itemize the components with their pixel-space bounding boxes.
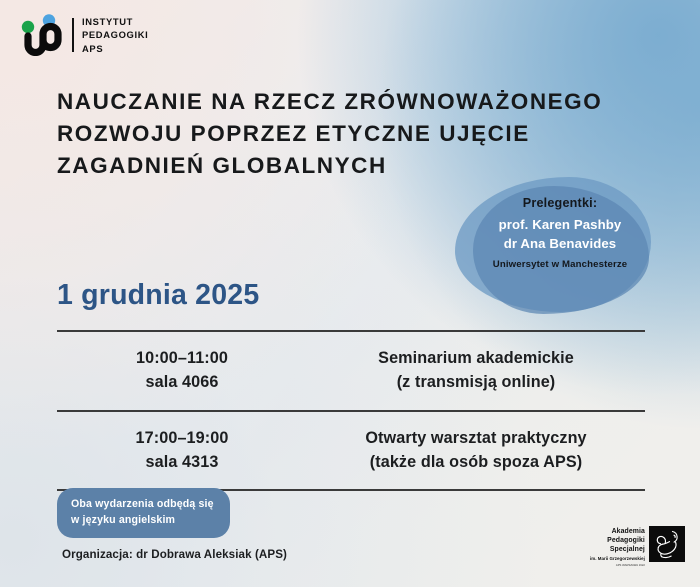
aps-emblem-icon (649, 526, 685, 562)
page-title: NAUCZANIE NA RZECZ ZRÓWNOWAŻONEGO ROZWOJ… (57, 86, 657, 182)
ip-logo-icon (18, 14, 66, 56)
logo-divider (72, 18, 74, 52)
aps-line-3: Specjalnej (590, 546, 645, 555)
language-badge: Oba wydarzenia odbędą się w języku angie… (57, 488, 230, 538)
schedule-row: 10:00–11:00 sala 4066 Seminarium akademi… (57, 332, 645, 410)
aps-line-1: Akademia (590, 528, 645, 537)
schedule-note: (także dla osób spoza APS) (307, 450, 645, 474)
aps-logo-text: Akademia Pedagogiki Specjalnej im. Marii… (590, 526, 649, 567)
schedule-room: sala 4066 (57, 370, 307, 394)
speakers-affiliation: Uniwersytet w Manchesterze (460, 259, 660, 270)
institute-logo: INSTYTUT PEDAGOGIKI APS (18, 14, 148, 56)
schedule-time: 17:00–19:00 (57, 426, 307, 450)
schedule-desc-cell: Seminarium akademickie (z transmisją onl… (307, 346, 645, 395)
schedule-time: 10:00–11:00 (57, 346, 307, 370)
aps-line-2: Pedagogiki (590, 537, 645, 546)
schedule-time-cell: 17:00–19:00 sala 4313 (57, 426, 307, 475)
schedule-desc-cell: Otwarty warsztat praktyczny (także dla o… (307, 426, 645, 475)
event-date: 1 grudnia 2025 (57, 279, 259, 312)
organizer-line: Organizacja: dr Dobrawa Aleksiak (APS) (62, 548, 287, 561)
schedule-note: (z transmisją online) (307, 370, 645, 394)
aps-subtitle: im. Marii Grzegorzewskiej (590, 556, 645, 561)
speaker-name-1: prof. Karen Pashby (460, 215, 660, 234)
speakers-block: Prelegentki: prof. Karen Pashby dr Ana B… (460, 196, 660, 270)
schedule-row: 17:00–19:00 sala 4313 Otwarty warsztat p… (57, 412, 645, 490)
poster-canvas: INSTYTUT PEDAGOGIKI APS NAUCZANIE NA RZE… (0, 0, 700, 587)
aps-logo: Akademia Pedagogiki Specjalnej im. Marii… (590, 526, 685, 567)
schedule-table: 10:00–11:00 sala 4066 Seminarium akademi… (57, 330, 645, 491)
aps-tiny-text: APS WARSZAWA 1922 (590, 564, 645, 567)
schedule-room: sala 4313 (57, 450, 307, 474)
schedule-time-cell: 10:00–11:00 sala 4066 (57, 346, 307, 395)
speakers-heading: Prelegentki: (460, 196, 660, 210)
speaker-name-2: dr Ana Benavides (460, 234, 660, 253)
schedule-title: Seminarium akademickie (307, 346, 645, 370)
institute-name: INSTYTUT PEDAGOGIKI APS (82, 15, 148, 55)
schedule-title: Otwarty warsztat praktyczny (307, 426, 645, 450)
